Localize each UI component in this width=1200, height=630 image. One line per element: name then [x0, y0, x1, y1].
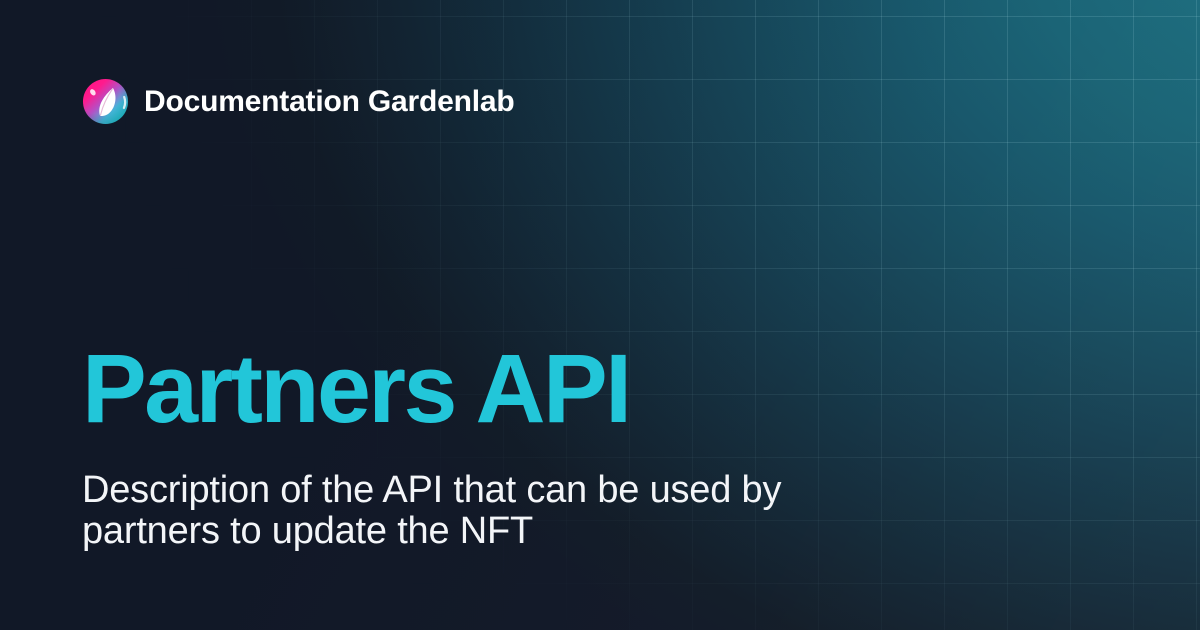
card-content: Documentation Gardenlab Partners API Des… — [0, 0, 1200, 630]
page-title: Partners API — [82, 340, 629, 437]
brand-lockup[interactable]: Documentation Gardenlab — [82, 78, 514, 125]
page-description: Description of the API that can be used … — [82, 470, 842, 552]
logo-highlight-edge — [124, 97, 125, 108]
brand-name: Documentation Gardenlab — [144, 87, 514, 117]
open-graph-card: Documentation Gardenlab Partners API Des… — [0, 0, 1200, 630]
leaf-icon — [82, 78, 129, 125]
